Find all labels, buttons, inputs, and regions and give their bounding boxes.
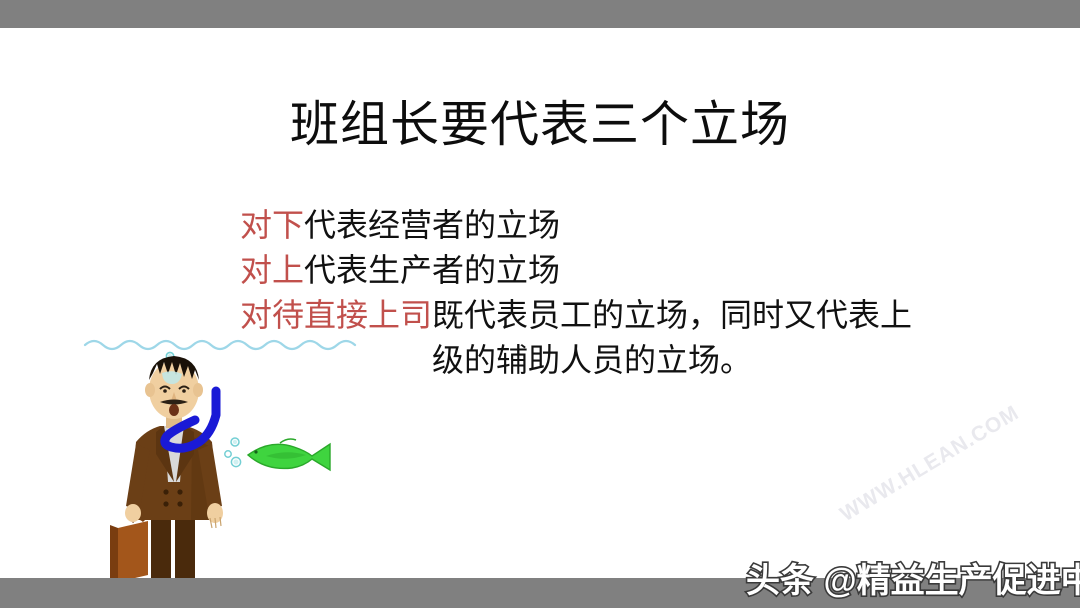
site-watermark: WWW.HLEAN.COM bbox=[812, 387, 1047, 541]
head bbox=[145, 356, 203, 419]
page-title: 班组长要代表三个立场 bbox=[0, 96, 1080, 154]
body-line-2-highlight: 对上 bbox=[240, 252, 304, 288]
fish-icon bbox=[248, 439, 330, 470]
body-line-1-rest: 代表经营者的立场 bbox=[304, 207, 560, 243]
letterbox-bar-top bbox=[0, 0, 1080, 28]
body-line-2-rest: 代表生产者的立场 bbox=[304, 252, 560, 288]
body-line-4-rest: 级的辅助人员的立场。 bbox=[432, 342, 752, 378]
fish-bubbles-fill-icon bbox=[233, 440, 239, 465]
briefcase-icon bbox=[110, 518, 148, 582]
hand-left bbox=[125, 504, 141, 522]
underwater-businessman-illustration bbox=[80, 332, 410, 582]
body-line-1: 对下代表经营者的立场 bbox=[240, 203, 1000, 248]
body-line-3-rest: 既代表员工的立场，同时又代表上 bbox=[432, 297, 912, 333]
footer-account-stamp: 头条 @精益生产促进中心 bbox=[740, 552, 1080, 608]
leg-left bbox=[151, 518, 171, 580]
body-line-1-highlight: 对下 bbox=[240, 207, 304, 243]
body-line-3-highlight: 对待直接上司 bbox=[240, 297, 432, 333]
waterline-icon bbox=[85, 341, 355, 349]
footer-text: 头条 @精益生产促进中心 bbox=[746, 562, 1080, 600]
slide-canvas: WWW.HLEAN.COM 班组长要代表三个立场 对下代表经营者的立场 对上代表… bbox=[0, 0, 1080, 608]
leg-right bbox=[175, 518, 195, 580]
body-line-2: 对上代表生产者的立场 bbox=[240, 248, 1000, 293]
